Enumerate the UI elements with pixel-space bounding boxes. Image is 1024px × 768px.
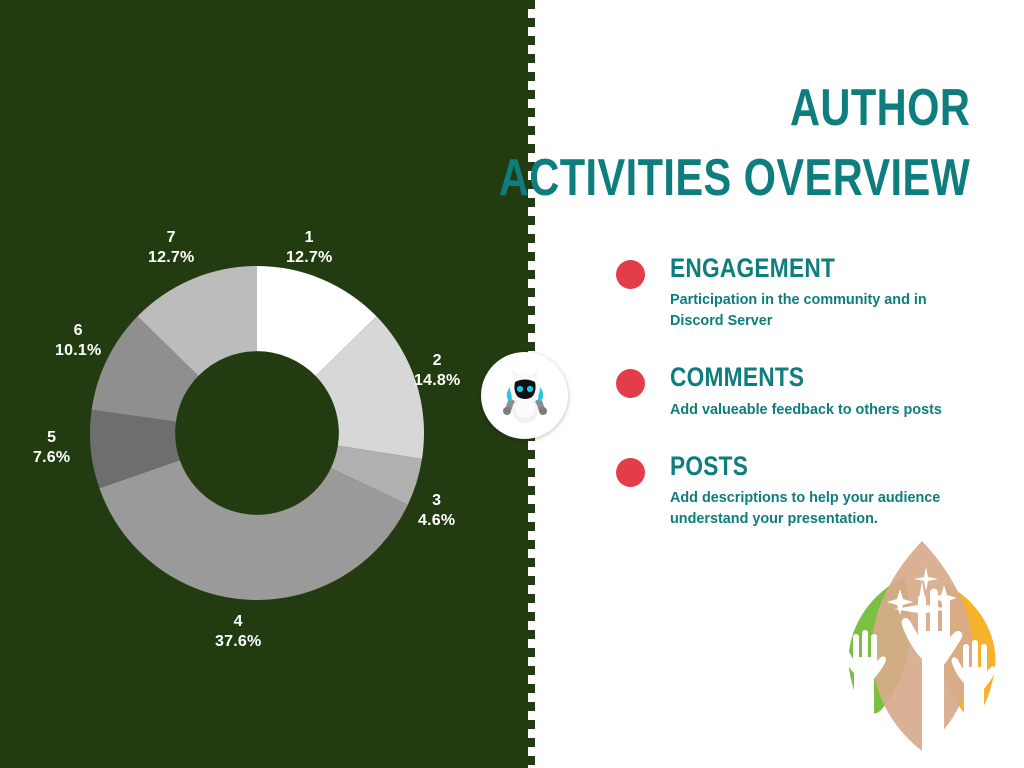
page-title-line-2: ACTIVITIES OVERVIEW (499, 144, 970, 214)
feature-list: ENGAGEMENT Participation in the communit… (616, 254, 1016, 561)
feature-body-comments: Add valueable feedback to others posts (670, 400, 948, 420)
slice-label-2-name: 2 (414, 351, 460, 371)
slice-label-5-name: 5 (33, 428, 70, 448)
slice-label-3-name: 3 (418, 491, 455, 511)
bullet-dot-icon (616, 369, 645, 398)
slice-label-6-value: 10.1% (55, 341, 101, 361)
slice-label-2-value: 14.8% (414, 371, 460, 391)
feature-heading-comments: COMMENTS (670, 363, 961, 391)
slice-label-7-name: 7 (148, 228, 194, 248)
slice-label-4: 4 37.6% (215, 612, 261, 653)
slice-label-1-value: 12.7% (286, 248, 332, 268)
feature-heading-engagement: ENGAGEMENT (670, 254, 961, 282)
feature-body-posts: Add descriptions to help your audience u… (670, 488, 948, 529)
feature-body-engagement: Participation in the community and in Di… (670, 290, 948, 331)
slice-label-1: 1 12.7% (286, 228, 332, 269)
slice-label-5-value: 7.6% (33, 448, 70, 468)
slice-label-7-value: 12.7% (148, 248, 194, 268)
slice-label-5: 5 7.6% (33, 428, 70, 469)
donut-chart-svg (90, 266, 424, 600)
right-content-panel: AUTHOR ACTIVITIES OVERVIEW ENGAGEMENT Pa… (536, 0, 1024, 768)
slice-label-1-name: 1 (286, 228, 332, 248)
feature-item-engagement[interactable]: ENGAGEMENT Participation in the communit… (616, 254, 1016, 331)
feature-item-posts[interactable]: POSTS Add descriptions to help your audi… (616, 452, 1016, 529)
slide-canvas: 1 12.7% 2 14.8% 3 4.6% 4 37.6% 5 7.6% 6 … (0, 0, 1024, 768)
bullet-dot-icon (616, 260, 645, 289)
slice-label-6-name: 6 (55, 321, 101, 341)
slice-label-3: 3 4.6% (418, 491, 455, 532)
slice-label-2: 2 14.8% (414, 351, 460, 392)
page-title-line-1: AUTHOR (499, 74, 970, 144)
donut-chart (90, 266, 424, 600)
slice-label-6: 6 10.1% (55, 321, 101, 362)
slice-label-3-value: 4.6% (418, 511, 455, 531)
hands-leaves-logo (826, 533, 1016, 758)
slice-label-4-value: 37.6% (215, 632, 261, 652)
feature-item-comments[interactable]: COMMENTS Add valueable feedback to other… (616, 363, 1016, 420)
page-title: AUTHOR ACTIVITIES OVERVIEW (381, 74, 970, 213)
slice-label-4-name: 4 (215, 612, 261, 632)
bullet-dot-icon (616, 458, 645, 487)
slice-label-7: 7 12.7% (148, 228, 194, 269)
feature-heading-posts: POSTS (670, 452, 961, 480)
